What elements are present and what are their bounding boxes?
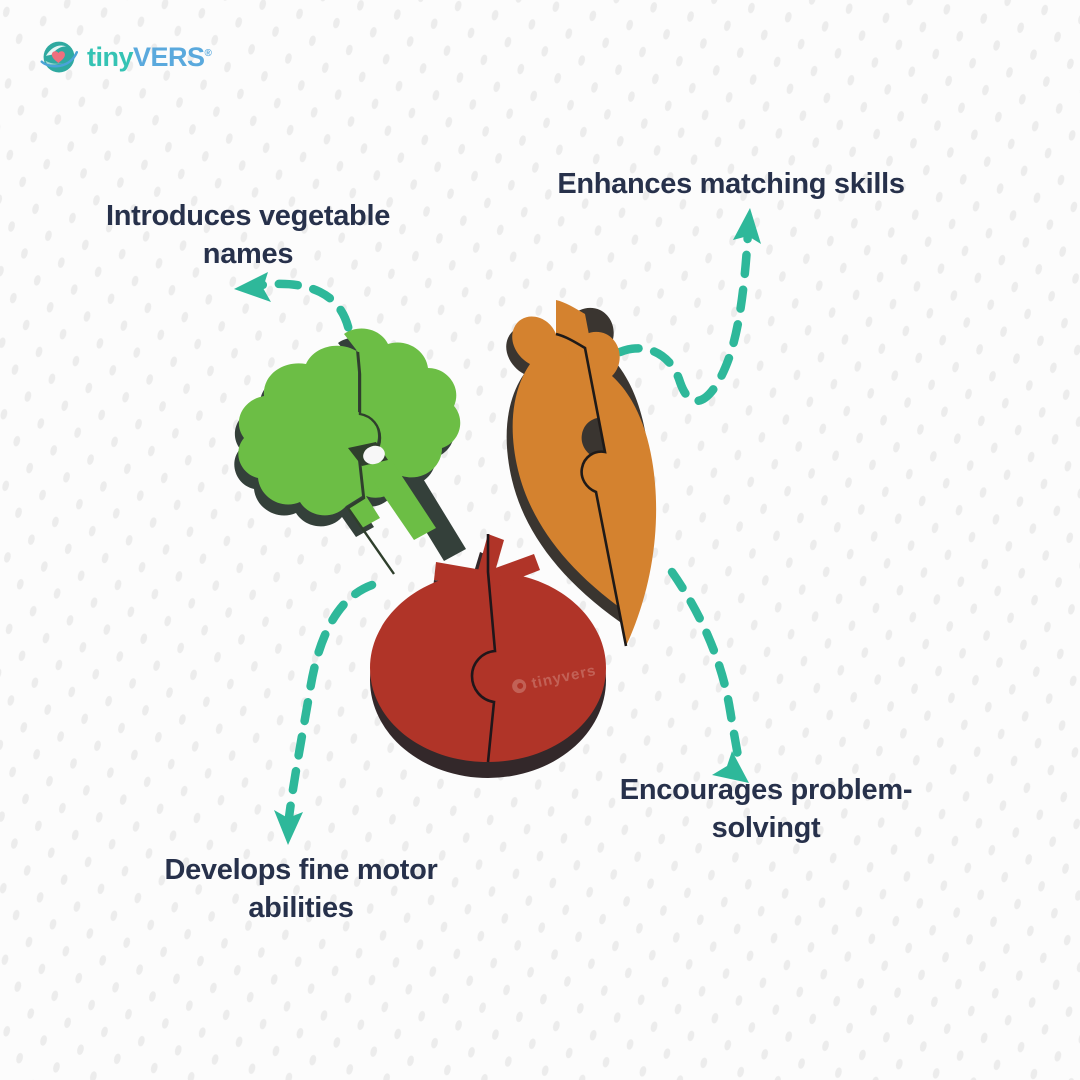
tomato-watermark: tinyvers — [511, 662, 598, 696]
broccoli-puzzle[interactable] — [234, 329, 466, 574]
arrow-to-problem-solving-path — [672, 572, 740, 768]
carrot-shadow — [506, 308, 650, 622]
tomato-shadow — [370, 552, 606, 778]
registered-mark: ® — [205, 48, 212, 59]
arrow-head-fine-motor — [274, 810, 303, 845]
callout-problem-solving: Encourages problem-solvingt — [580, 772, 952, 847]
callout-matching-skills: Enhances matching skills — [516, 166, 946, 204]
broccoli-piece-right[interactable] — [344, 329, 460, 528]
brand-logo: tinyVERS® — [40, 38, 211, 76]
tomato-puzzle[interactable]: tinyvers — [370, 534, 606, 778]
arrow-to-fine-motor-path — [288, 585, 372, 826]
broccoli-shadow — [234, 338, 466, 561]
tomato-seam — [472, 534, 495, 762]
svg-text:tinyvers: tinyvers — [530, 662, 598, 692]
broccoli-piece-left[interactable] — [238, 346, 378, 516]
broccoli-stem — [366, 458, 436, 540]
brand-word-tiny: tiny — [87, 42, 133, 72]
arrow-head-matching-skills — [733, 208, 761, 244]
broccoli-hole — [348, 442, 388, 467]
carrot-seam — [556, 334, 626, 646]
poster-canvas: tinyVERS® — [0, 0, 1080, 1080]
arrow-to-matching-skills-path — [620, 232, 748, 401]
callout-vegetable-names: Introduces vegetable names — [62, 198, 434, 273]
brand-word-vers: VERS — [133, 42, 205, 72]
carrot-piece-right[interactable] — [556, 332, 656, 646]
globe-heart-icon — [40, 38, 78, 76]
brand-wordmark: tinyVERS® — [87, 44, 211, 71]
tomato-piece-left[interactable] — [370, 572, 495, 762]
carrot-piece-left[interactable] — [512, 300, 626, 612]
arrow-to-vegetable-names-path — [262, 284, 352, 362]
tomato-stem — [434, 534, 540, 588]
tomato-piece-right[interactable] — [472, 572, 606, 762]
carrot-puzzle[interactable] — [506, 300, 656, 646]
broccoli-seam — [348, 352, 394, 574]
arrow-head-vegetable-names — [234, 272, 271, 302]
callout-fine-motor: Develops fine motor abilities — [126, 852, 476, 927]
